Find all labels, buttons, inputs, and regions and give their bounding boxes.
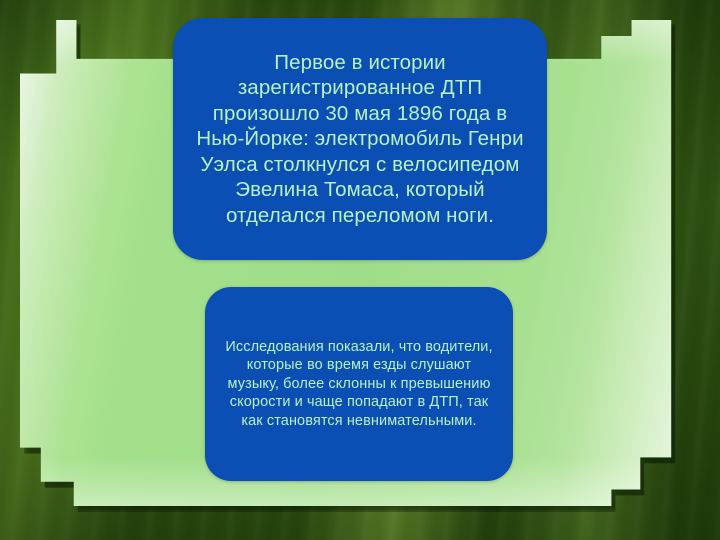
presentation-slide: Первое в истории зарегистрированное ДТП … <box>0 0 720 540</box>
callout-box-secondary: Исследования показали, что водители, кот… <box>205 287 513 481</box>
callout-box-primary: Первое в истории зарегистрированное ДТП … <box>173 18 547 260</box>
callout-primary-text: Первое в истории зарегистрированное ДТП … <box>189 50 531 229</box>
callout-secondary-text: Исследования показали, что водители, кот… <box>223 338 495 431</box>
